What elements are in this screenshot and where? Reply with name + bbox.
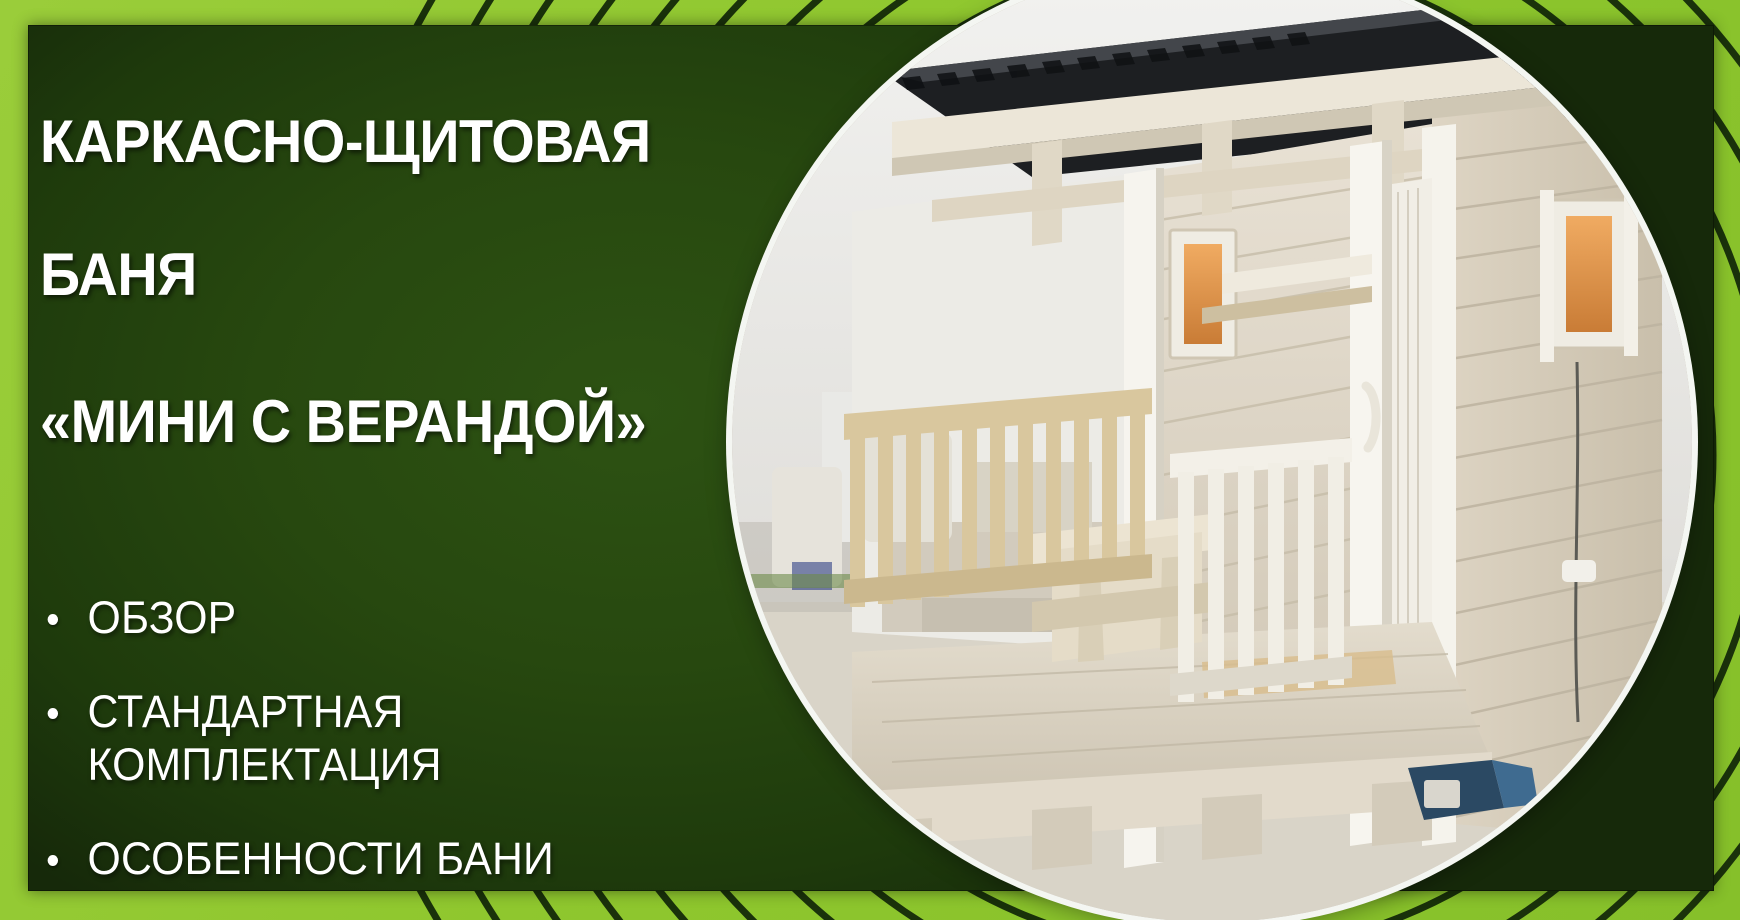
title-line-3: «МИНИ С ВЕРАНДОЙ» (40, 389, 710, 456)
photo-clip (732, 0, 1692, 920)
topic-list: ОБЗОР СТАНДАРТНАЯ КОМПЛЕКТАЦИЯ ОСОБЕННОС… (40, 522, 760, 885)
page-title: КАРКАСНО-ЩИТОВАЯ БАНЯ «МИНИ С ВЕРАНДОЙ» (40, 10, 710, 522)
list-item: СТАНДАРТНАЯ КОМПЛЕКТАЦИЯ (40, 686, 724, 790)
list-item: ОСОБЕННОСТИ БАНИ (40, 833, 724, 885)
title-line-2: БАНЯ (40, 242, 710, 309)
title-line-1: КАРКАСНО-ЩИТОВАЯ (40, 109, 710, 176)
list-item: ОБЗОР (40, 592, 724, 644)
product-photo (732, 0, 1692, 920)
text-column: КАРКАСНО-ЩИТОВАЯ БАНЯ «МИНИ С ВЕРАНДОЙ» … (40, 10, 760, 856)
video-thumbnail: КАРКАСНО-ЩИТОВАЯ БАНЯ «МИНИ С ВЕРАНДОЙ» … (0, 0, 1740, 920)
